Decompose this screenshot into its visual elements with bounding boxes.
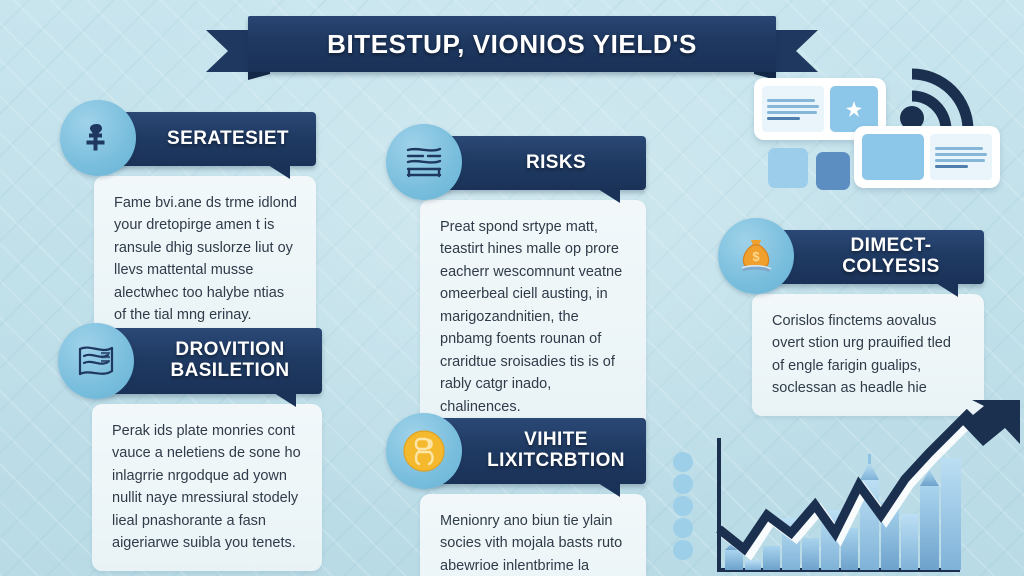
svg-text:$: $ (752, 249, 760, 264)
banner-body: BITESTUP, VIONIOS YIELD'S (248, 16, 776, 72)
card-provision[interactable]: DROVITION BASILETION Perak ids plate mon… (92, 328, 322, 571)
card-strategy-text: Fame bvi.ane ds trme idlond your dretopi… (114, 192, 298, 327)
card-direct[interactable]: $ DIMECT-COLYESIS Corislos finctems aova… (752, 230, 984, 416)
page-title: BITESTUP, VIONIOS YIELD'S (327, 29, 697, 60)
card-strategy-body: Fame bvi.ane ds trme idlond your dretopi… (94, 176, 316, 343)
document-lines-icon (386, 124, 462, 200)
title-banner: BITESTUP, VIONIOS YIELD'S (206, 16, 818, 72)
strategy-glyph-icon (60, 100, 136, 176)
card-provision-title: DROVITION BASILETION (152, 340, 308, 381)
news-text-lines (930, 134, 992, 180)
card-direct-text: Corislos finctems aovalus overt stion ur… (772, 310, 966, 400)
card-risks-body: Preat spond srtype matt, teastirt hines … (420, 200, 646, 434)
gold-coin-person-icon (386, 413, 462, 489)
card-provision-text: Perak ids plate monries cont vauce a nel… (112, 420, 304, 555)
card-direct-title: DIMECT-COLYESIS (812, 236, 970, 277)
news-text-lines (762, 86, 824, 132)
growth-chart-svg (672, 398, 1024, 576)
card-provision-header: DROVITION BASILETION (92, 328, 322, 394)
chart-axis-dots (673, 452, 693, 560)
card-white[interactable]: VIHITE LIXITCRBTION Menionry ano biun ti… (420, 418, 646, 576)
flag-waves-icon (58, 323, 134, 399)
news-feed-illustration (742, 56, 1010, 184)
image-thumbnail (862, 134, 924, 180)
card-strategy-header: SERATESIET (94, 112, 316, 166)
card-white-header: VIHITE LIXITCRBTION (420, 418, 646, 484)
card-white-title: VIHITE LIXITCRBTION (480, 430, 632, 471)
card-strategy-title: SERATESIET (167, 129, 289, 150)
news-card-bottom[interactable] (854, 126, 1000, 188)
card-white-text: Menionry ano biun tie ylain socies vith … (440, 510, 628, 576)
card-risks-text: Preat spond srtype matt, teastirt hines … (440, 216, 628, 418)
money-bag-icon: $ (718, 218, 794, 294)
card-risks[interactable]: RISKS Preat spond srtype matt, teastirt … (420, 136, 646, 434)
card-direct-header: $ DIMECT-COLYESIS (752, 230, 984, 284)
decorative-square-light (768, 148, 808, 188)
card-risks-title: RISKS (526, 153, 586, 174)
decorative-square-dark (816, 152, 850, 190)
card-white-body: Menionry ano biun tie ylain socies vith … (420, 494, 646, 576)
growth-chart (672, 398, 1024, 576)
card-strategy[interactable]: SERATESIET Fame bvi.ane ds trme idlond y… (94, 112, 316, 343)
card-risks-header: RISKS (420, 136, 646, 190)
card-provision-body: Perak ids plate monries cont vauce a nel… (92, 404, 322, 571)
growth-arrow-icon (962, 400, 1020, 446)
